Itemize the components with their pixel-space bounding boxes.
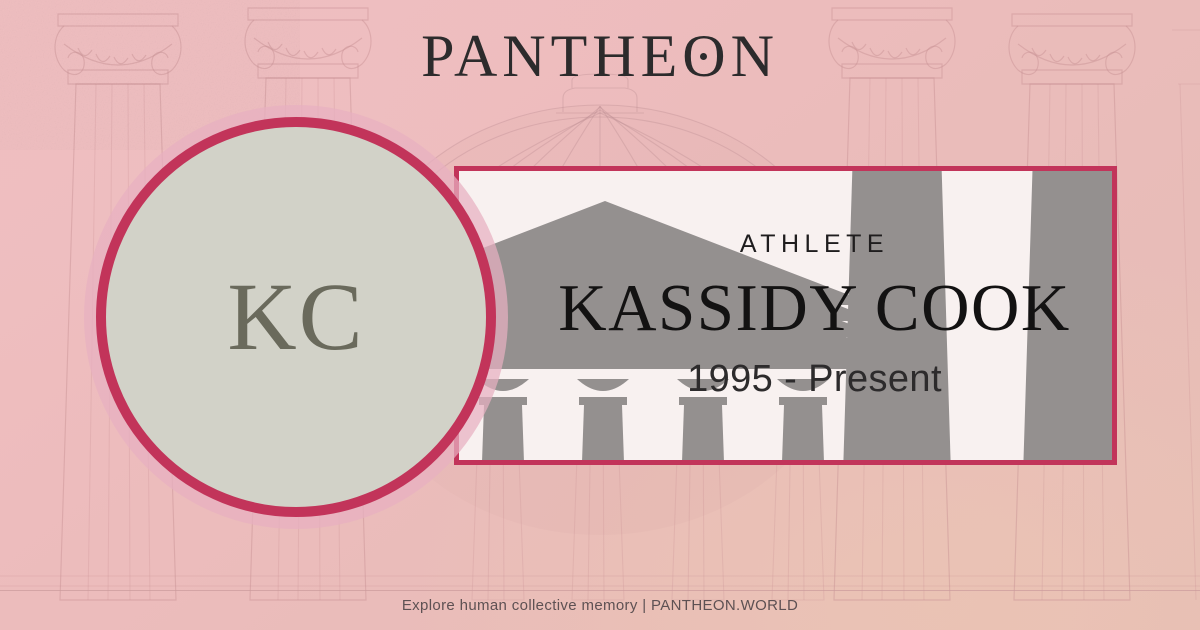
footer-tagline: Explore human collective memory | PANTHE…	[0, 597, 1200, 614]
person-info-card: ATHLETE KASSIDY COOK 1995 - Present	[454, 166, 1117, 465]
pantheon-wordmark: PANTHEON	[0, 26, 1200, 86]
pantheon-profile-card: PANTHEON	[0, 0, 1200, 630]
lifespan-label: 1995 - Present	[687, 358, 942, 401]
person-name: KASSIDY COOK	[558, 273, 1071, 344]
footer-divider	[0, 590, 1200, 591]
wordmark-o-with-oculus: O	[682, 26, 730, 86]
wordmark-part-before: PANTHE	[421, 23, 682, 89]
occupation-label: ATHLETE	[740, 230, 889, 259]
avatar-initials: KC	[227, 269, 364, 365]
wordmark-part-after: N	[731, 23, 779, 89]
avatar: KC	[96, 117, 496, 517]
